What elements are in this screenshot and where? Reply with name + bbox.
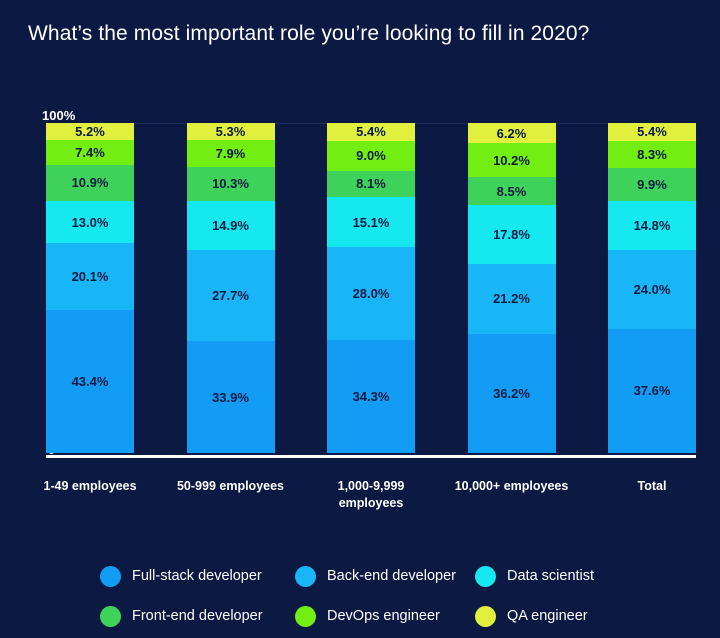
bar-segment-value-label: 43.4% xyxy=(72,375,109,388)
bar-segment[interactable]: 9.9% xyxy=(608,168,696,201)
bar-segment-value-label: 20.1% xyxy=(72,270,109,283)
bar-segment-value-label: 6.2% xyxy=(497,127,527,140)
legend-label: Data scientist xyxy=(507,568,594,584)
bar-segment[interactable]: 5.3% xyxy=(187,123,275,140)
bar-segment-value-label: 8.3% xyxy=(637,148,667,161)
bar-segment[interactable]: 8.5% xyxy=(468,177,556,205)
x-axis-category-label: 10,000+ employees xyxy=(453,478,571,512)
bar-segment[interactable]: 9.0% xyxy=(327,141,415,171)
legend-color-dot-icon xyxy=(475,606,496,627)
legend-color-dot-icon xyxy=(295,566,316,587)
legend-label: Back-end developer xyxy=(327,568,456,584)
legend-label: DevOps engineer xyxy=(327,608,440,624)
bar-segment-value-label: 17.8% xyxy=(493,228,530,241)
legend-color-dot-icon xyxy=(100,606,121,627)
bar-segment-value-label: 9.9% xyxy=(637,178,667,191)
legend-color-dot-icon xyxy=(100,566,121,587)
bar-segment[interactable]: 34.3% xyxy=(327,340,415,453)
bar-segment-value-label: 5.3% xyxy=(216,125,246,138)
bar-segment[interactable]: 15.1% xyxy=(327,197,415,247)
legend-label: QA engineer xyxy=(507,608,588,624)
legend-item[interactable]: QA engineer xyxy=(475,606,635,627)
x-axis-category-labels: 1-49 employees50-999 employees1,000-9,99… xyxy=(46,478,696,512)
bar-segment[interactable]: 5.2% xyxy=(46,123,134,140)
bar-segment-value-label: 5.4% xyxy=(356,125,386,138)
bar-column[interactable]: 5.3%7.9%10.3%14.9%27.7%33.9% xyxy=(187,123,275,453)
bar-segment-value-label: 21.2% xyxy=(493,292,530,305)
bar-column[interactable]: 5.4%8.3%9.9%14.8%24.0%37.6% xyxy=(608,123,696,453)
legend-item[interactable]: Front-end developer xyxy=(100,606,295,627)
bar-segment-value-label: 14.8% xyxy=(634,219,671,232)
legend-color-dot-icon xyxy=(295,606,316,627)
bar-segment-value-label: 5.4% xyxy=(637,125,667,138)
legend-label: Front-end developer xyxy=(132,608,263,624)
bar-segment-value-label: 37.6% xyxy=(634,384,671,397)
bar-segment-value-label: 10.9% xyxy=(72,176,109,189)
x-axis-category-label: 1,000-9,999 employees xyxy=(312,478,430,512)
bar-segment[interactable]: 27.7% xyxy=(187,250,275,341)
bar-segment[interactable]: 8.3% xyxy=(608,141,696,168)
bar-segment[interactable]: 7.9% xyxy=(187,140,275,166)
bar-segment-value-label: 13.0% xyxy=(72,216,109,229)
bar-segment[interactable]: 5.4% xyxy=(327,123,415,141)
legend-item[interactable]: Data scientist xyxy=(475,566,635,587)
x-axis-category-label: 50-999 employees xyxy=(172,478,290,512)
x-axis-category-label: Total xyxy=(593,478,711,512)
bar-segment-value-label: 33.9% xyxy=(212,391,249,404)
bar-segment[interactable]: 8.1% xyxy=(327,171,415,198)
bar-column[interactable]: 6.2%10.2%8.5%17.8%21.2%36.2% xyxy=(468,123,556,453)
legend-row: Front-end developerDevOps engineerQA eng… xyxy=(100,596,640,636)
bar-segment[interactable]: 37.6% xyxy=(608,329,696,453)
legend-item[interactable]: Back-end developer xyxy=(295,566,475,587)
bar-segment[interactable]: 43.4% xyxy=(46,310,134,453)
chart-container: What’s the most important role you’re lo… xyxy=(0,0,720,638)
bar-segment[interactable]: 10.3% xyxy=(187,167,275,201)
bar-segment-value-label: 8.5% xyxy=(497,185,527,198)
y-axis-max-label: 100% xyxy=(42,108,75,123)
bar-segment[interactable]: 20.1% xyxy=(46,243,134,309)
bar-segment-value-label: 15.1% xyxy=(353,216,390,229)
bar-segment-value-label: 27.7% xyxy=(212,289,249,302)
bar-segment[interactable]: 24.0% xyxy=(608,250,696,329)
legend-item[interactable]: Full-stack developer xyxy=(100,566,295,587)
bar-segment-value-label: 34.3% xyxy=(353,390,390,403)
bar-segment[interactable]: 14.8% xyxy=(608,201,696,250)
legend-color-dot-icon xyxy=(475,566,496,587)
legend-item[interactable]: DevOps engineer xyxy=(295,606,475,627)
bar-segment-value-label: 8.1% xyxy=(356,177,386,190)
bar-segment[interactable]: 6.2% xyxy=(468,123,556,143)
x-axis-category-label: 1-49 employees xyxy=(31,478,149,512)
bar-segment[interactable]: 7.4% xyxy=(46,140,134,164)
bar-segment[interactable]: 10.9% xyxy=(46,165,134,201)
legend-row: Full-stack developerBack-end developerDa… xyxy=(100,556,640,596)
bar-segment[interactable]: 10.2% xyxy=(468,143,556,177)
bar-segment[interactable]: 28.0% xyxy=(327,247,415,340)
bar-segment-value-label: 14.9% xyxy=(212,219,249,232)
bar-segment-value-label: 24.0% xyxy=(634,283,671,296)
bars-row: 5.2%7.4%10.9%13.0%20.1%43.4%5.3%7.9%10.3… xyxy=(46,123,696,453)
bar-segment-value-label: 7.4% xyxy=(75,146,105,159)
bar-segment-value-label: 9.0% xyxy=(356,149,386,162)
bar-segment-value-label: 10.2% xyxy=(493,154,530,167)
bar-segment[interactable]: 5.4% xyxy=(608,123,696,141)
bar-column[interactable]: 5.4%9.0%8.1%15.1%28.0%34.3% xyxy=(327,123,415,453)
bar-column[interactable]: 5.2%7.4%10.9%13.0%20.1%43.4% xyxy=(46,123,134,453)
bar-segment[interactable]: 36.2% xyxy=(468,334,556,453)
chart-legend: Full-stack developerBack-end developerDa… xyxy=(100,556,640,636)
chart-title: What’s the most important role you’re lo… xyxy=(28,22,589,46)
legend-label: Full-stack developer xyxy=(132,568,262,584)
plot-area: 5.2%7.4%10.9%13.0%20.1%43.4%5.3%7.9%10.3… xyxy=(46,123,696,453)
bar-segment-value-label: 28.0% xyxy=(353,287,390,300)
bar-segment-value-label: 36.2% xyxy=(493,387,530,400)
x-axis-line xyxy=(46,455,696,458)
bar-segment-value-label: 10.3% xyxy=(212,177,249,190)
bar-segment[interactable]: 33.9% xyxy=(187,341,275,453)
bar-segment-value-label: 7.9% xyxy=(216,147,246,160)
bar-segment[interactable]: 14.9% xyxy=(187,201,275,250)
bar-segment[interactable]: 17.8% xyxy=(468,205,556,264)
bar-segment[interactable]: 13.0% xyxy=(46,201,134,244)
bar-segment[interactable]: 21.2% xyxy=(468,264,556,334)
bar-segment-value-label: 5.2% xyxy=(75,125,105,138)
